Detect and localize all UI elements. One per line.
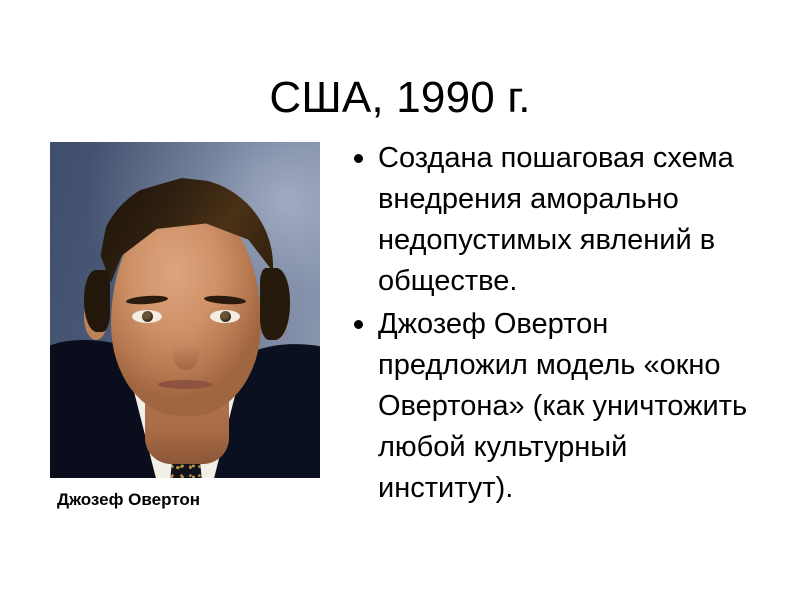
list-item: Джозеф Овертон предложил модель «окно Ов…: [348, 304, 748, 509]
photo-caption: Джозеф Овертон: [57, 490, 200, 510]
bullet-dot-icon: [354, 154, 363, 163]
page-title: США, 1990 г.: [0, 73, 800, 123]
hair-sideburn-right-shape: [260, 268, 290, 340]
hair-sideburn-left-shape: [84, 270, 110, 332]
portrait-photo: [50, 142, 320, 478]
eye-left-shape: [132, 310, 162, 323]
nose-shape: [173, 330, 199, 370]
list-item-text: Создана пошаговая схема внедрения аморал…: [378, 142, 734, 297]
presentation-slide: США, 1990 г. Джозеф Ов: [0, 0, 800, 600]
iris-right-shape: [220, 311, 231, 322]
bullet-list: Создана пошаговая схема внедрения аморал…: [348, 138, 748, 511]
list-item: Создана пошаговая схема внедрения аморал…: [348, 138, 748, 302]
photo-backdrop: [50, 142, 320, 478]
list-item-text: Джозеф Овертон предложил модель «окно Ов…: [378, 308, 747, 504]
iris-left-shape: [142, 311, 153, 322]
bullet-dot-icon: [354, 320, 363, 329]
eye-right-shape: [210, 310, 240, 323]
mouth-shape: [158, 380, 212, 389]
